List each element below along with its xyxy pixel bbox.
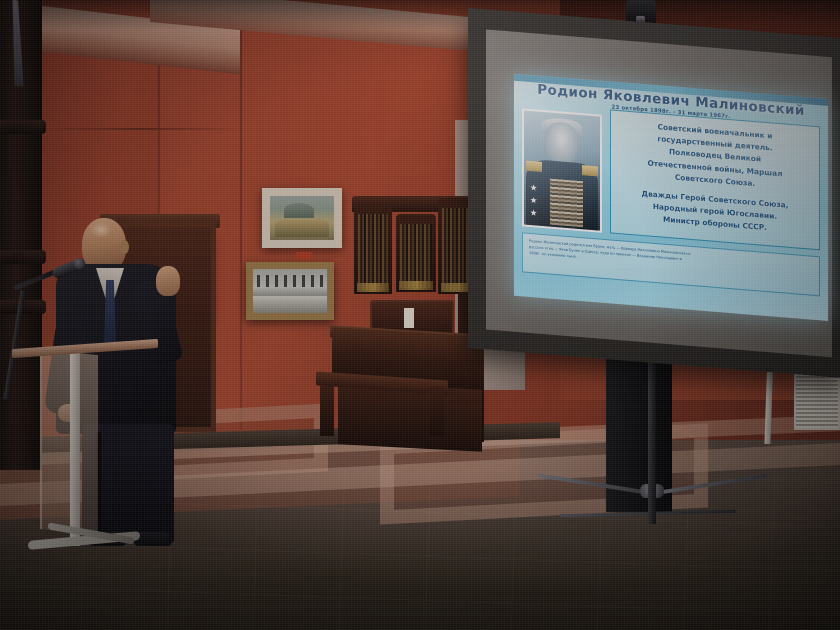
speaker-raised-hand [156, 266, 180, 296]
head-highlight [90, 222, 112, 238]
projection-screen-assembly: Родион Яковлевич Малиновский 23 октября … [468, 8, 840, 390]
speaker-ear [120, 240, 129, 254]
bench-leg-left [320, 386, 334, 436]
column-band-mid [0, 250, 46, 264]
marshal-portrait-photo [522, 108, 602, 232]
wall-moulding-line [40, 128, 240, 130]
portrait-medal-bars [550, 179, 583, 227]
winter-trees [257, 275, 322, 287]
landscape-painting [262, 188, 342, 248]
painting-wall-label [296, 252, 312, 259]
presentation-slide: Родион Яковлевич Малиновский 23 октября … [514, 74, 828, 321]
portrait-epaulette-left [526, 161, 543, 173]
landscape-foliage [275, 219, 329, 237]
bench-leg-right [430, 386, 444, 436]
lectern-support-post [70, 350, 80, 546]
organ-pipe-tower-middle [396, 214, 436, 292]
landscape-dome [284, 203, 313, 218]
portrait-epaulette-right [582, 165, 599, 177]
lectern-podium [14, 344, 154, 584]
winter-painting [246, 262, 334, 320]
presentation-room-photo: Родион Яковлевич Малиновский 23 октября … [0, 0, 840, 630]
organ-pipe-foot-left [357, 283, 389, 292]
wall-seam-mid [240, 0, 242, 430]
slide-biography-textbox: Советский военачальник и государственный… [610, 109, 820, 250]
organ-info-card [404, 308, 414, 328]
portrait-face [544, 121, 579, 165]
organ-pipe-tower-left [354, 204, 392, 294]
ceiling-shadow [0, 0, 840, 30]
lectern-panel [40, 349, 98, 535]
organ-pipes-middle [400, 224, 432, 288]
winter-snow [253, 296, 327, 313]
organ-bench [316, 376, 448, 438]
microphone-capsule-icon [74, 258, 85, 269]
organ-pipe-foot-middle [399, 281, 433, 290]
organ-pipes-left [358, 214, 388, 290]
column-band-upper [0, 120, 46, 134]
